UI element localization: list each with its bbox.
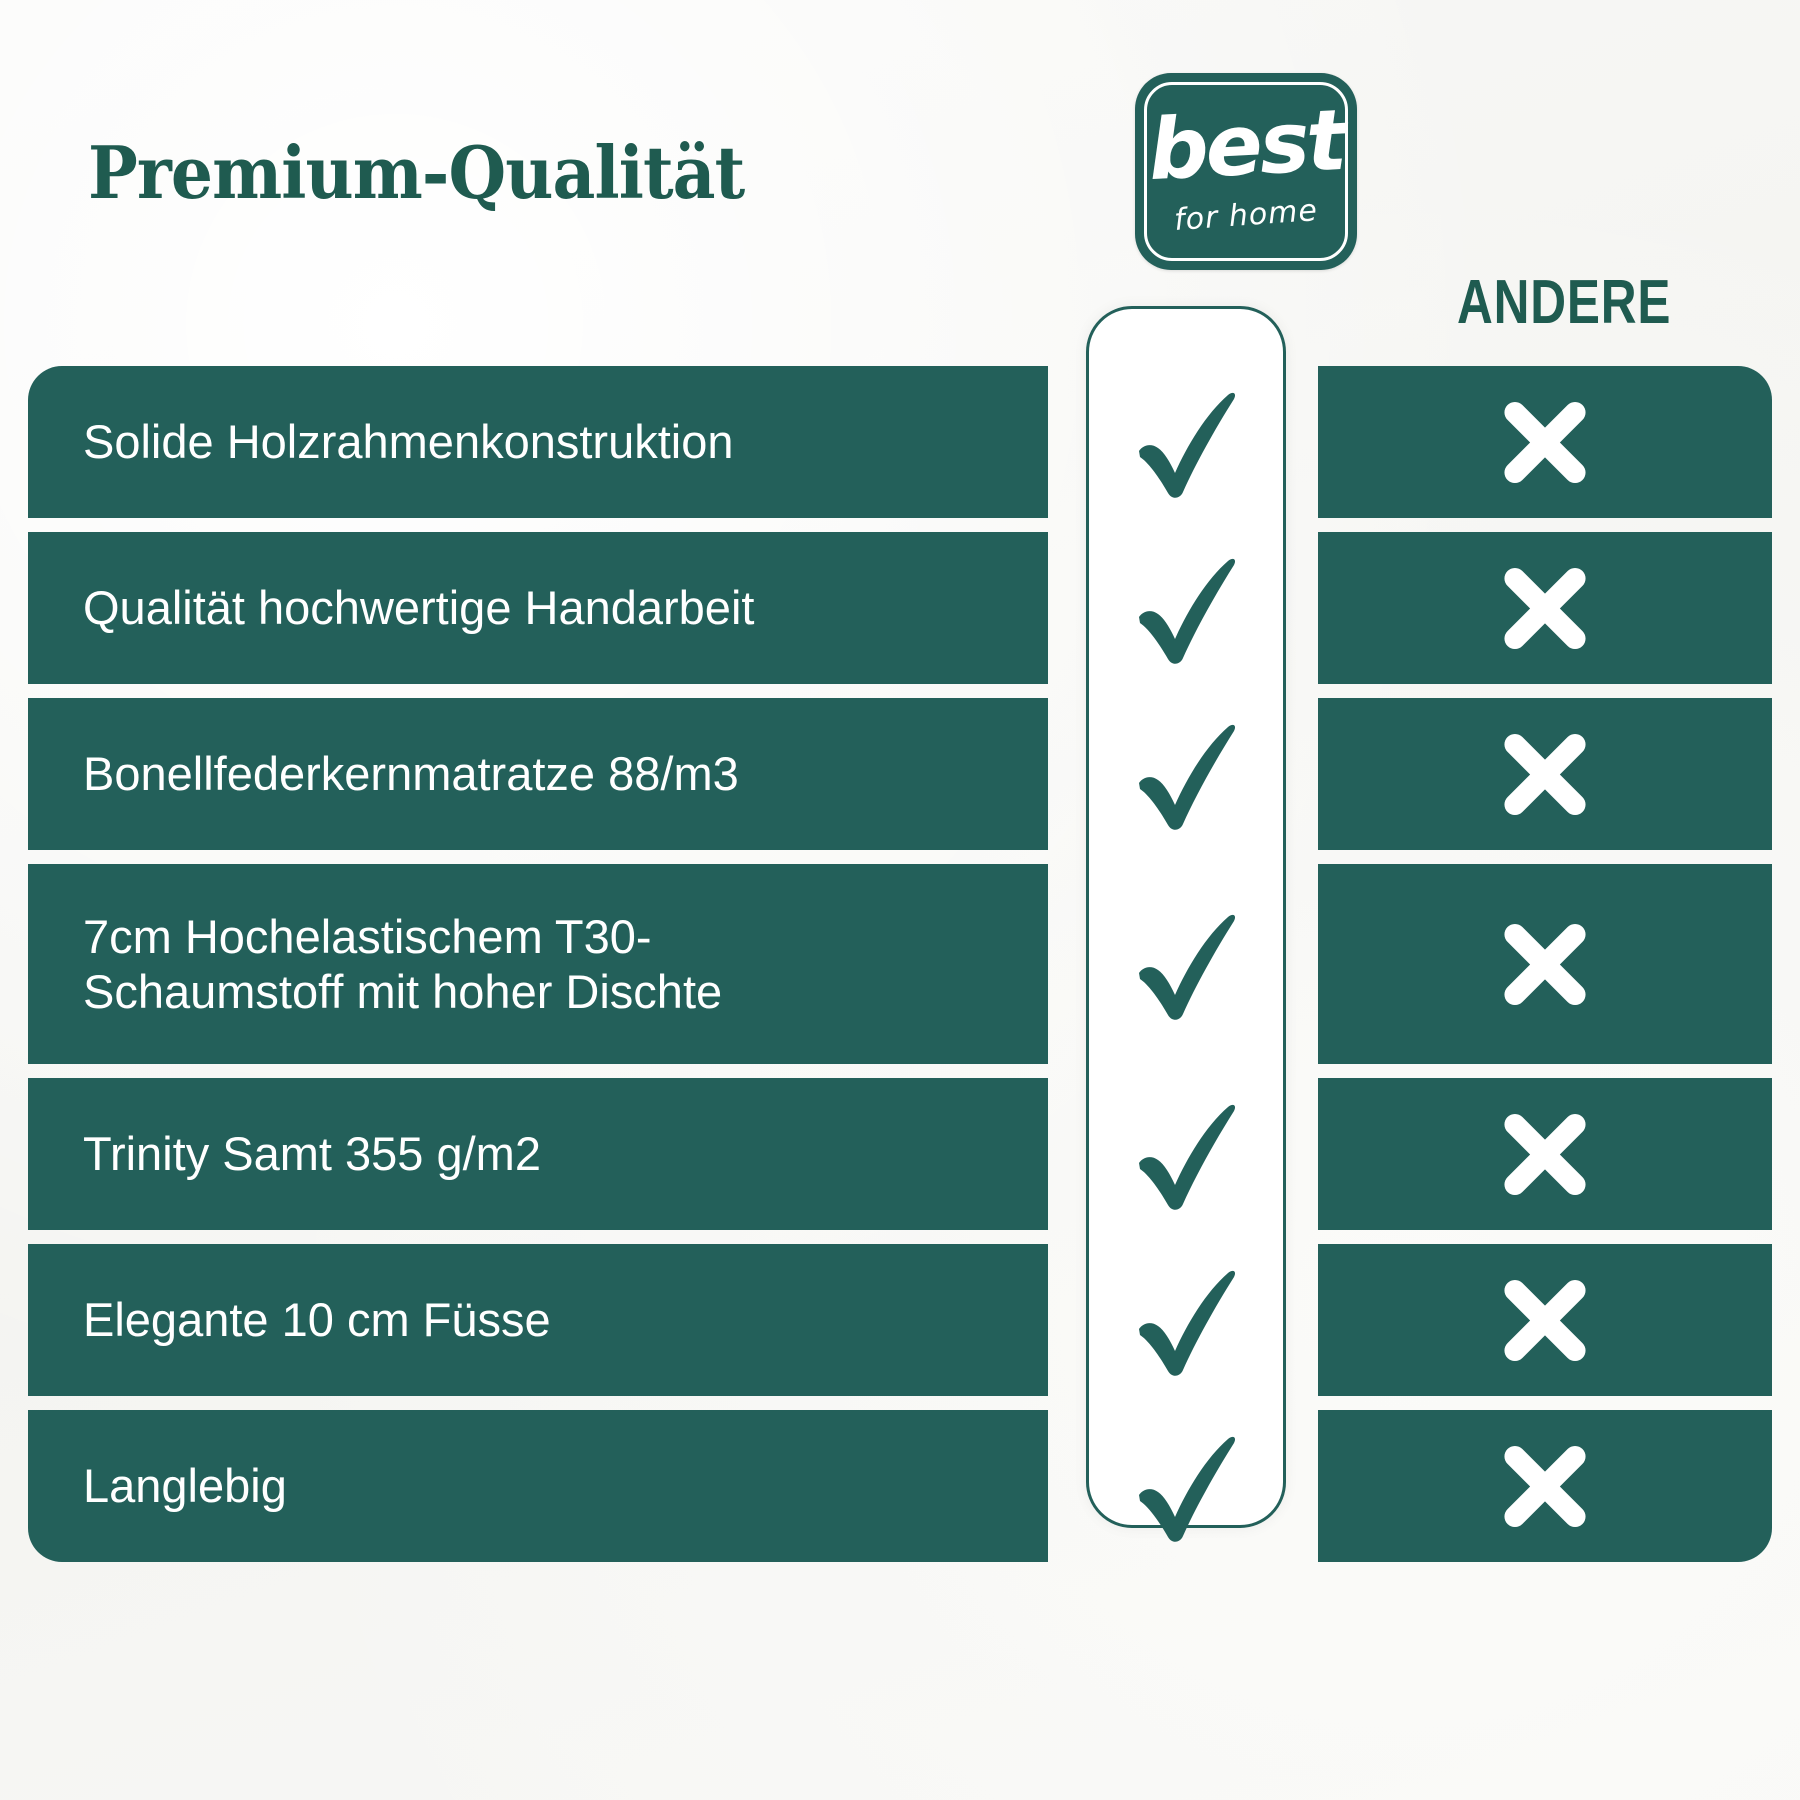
competitor-cell — [1318, 698, 1772, 850]
table-row: Trinity Samt 355 g/m2 — [0, 1078, 1800, 1230]
feature-cell: Qualität hochwertige Handarbeit — [28, 532, 1048, 684]
competitor-cell — [1318, 1410, 1772, 1562]
competitor-cell — [1318, 366, 1772, 518]
cross-icon — [1502, 921, 1588, 1007]
check-list — [1089, 369, 1283, 1565]
feature-cell: Bonellfederkernmatratze 88/m3 — [28, 698, 1048, 850]
feature-label: Elegante 10 cm Füsse — [83, 1292, 551, 1347]
feature-cell: Solide Holzrahmenkonstruktion — [28, 366, 1048, 518]
feature-label: Qualität hochwertige Handarbeit — [83, 580, 754, 635]
feature-label: Langlebig — [83, 1458, 287, 1513]
cross-icon — [1502, 399, 1588, 485]
check-icon — [1127, 1267, 1245, 1379]
feature-label: Trinity Samt 355 g/m2 — [83, 1126, 541, 1181]
cross-icon — [1502, 1277, 1588, 1363]
best-column-highlight — [1086, 306, 1286, 1528]
feature-cell: Trinity Samt 355 g/m2 — [28, 1078, 1048, 1230]
cross-icon — [1502, 731, 1588, 817]
feature-cell: Langlebig — [28, 1410, 1048, 1562]
check-icon — [1127, 555, 1245, 667]
table-row: Qualität hochwertige Handarbeit — [0, 532, 1800, 684]
table-row: Langlebig — [0, 1410, 1800, 1562]
cross-icon — [1502, 565, 1588, 651]
table-row: Bonellfederkernmatratze 88/m3 — [0, 698, 1800, 850]
table-row: Elegante 10 cm Füsse — [0, 1244, 1800, 1396]
check-icon — [1127, 911, 1245, 1023]
feature-label: Bonellfederkernmatratze 88/m3 — [83, 746, 739, 801]
best-cell — [1089, 369, 1283, 521]
comparison-infographic: Premium-Qualität best for home ANDERE So… — [0, 0, 1800, 1800]
feature-label-line1: Trinity Samt 355 g/m2 — [83, 1126, 541, 1181]
best-cell — [1089, 1081, 1283, 1233]
logo-brand-text: best — [1133, 97, 1359, 193]
best-cell — [1089, 535, 1283, 687]
feature-label-line2: Schaumstoff mit hoher Dischte — [83, 964, 722, 1019]
competitor-cell — [1318, 1078, 1772, 1230]
check-icon — [1127, 1101, 1245, 1213]
check-icon — [1127, 389, 1245, 501]
cross-icon — [1502, 1111, 1588, 1197]
competitor-cell — [1318, 1244, 1772, 1396]
feature-label-line1: Qualität hochwertige Handarbeit — [83, 580, 754, 635]
cross-icon — [1502, 1443, 1588, 1529]
competitor-cell — [1318, 532, 1772, 684]
feature-label-line1: Langlebig — [83, 1458, 287, 1513]
table-row: Solide Holzrahmenkonstruktion — [0, 366, 1800, 518]
feature-label-line1: 7cm Hochelastischem T30- — [83, 909, 722, 964]
feature-cell: 7cm Hochelastischem T30-Schaumstoff mit … — [28, 864, 1048, 1064]
best-cell — [1089, 701, 1283, 853]
competitor-column-header: ANDERE — [1457, 272, 1665, 334]
best-cell — [1089, 1413, 1283, 1565]
page-title: Premium-Qualität — [88, 130, 744, 215]
feature-label: Solide Holzrahmenkonstruktion — [83, 414, 734, 469]
table-row: 7cm Hochelastischem T30-Schaumstoff mit … — [0, 864, 1800, 1064]
check-icon — [1127, 1433, 1245, 1545]
best-cell — [1089, 867, 1283, 1067]
brand-logo: best for home — [1135, 73, 1357, 270]
check-icon — [1127, 721, 1245, 833]
best-cell — [1089, 1247, 1283, 1399]
feature-label-line1: Bonellfederkernmatratze 88/m3 — [83, 746, 739, 801]
feature-label: 7cm Hochelastischem T30-Schaumstoff mit … — [83, 909, 722, 1020]
comparison-rows: Solide HolzrahmenkonstruktionQualität ho… — [0, 366, 1800, 1562]
feature-cell: Elegante 10 cm Füsse — [28, 1244, 1048, 1396]
competitor-cell — [1318, 864, 1772, 1064]
feature-label-line1: Solide Holzrahmenkonstruktion — [83, 414, 734, 469]
feature-label-line1: Elegante 10 cm Füsse — [83, 1292, 551, 1347]
